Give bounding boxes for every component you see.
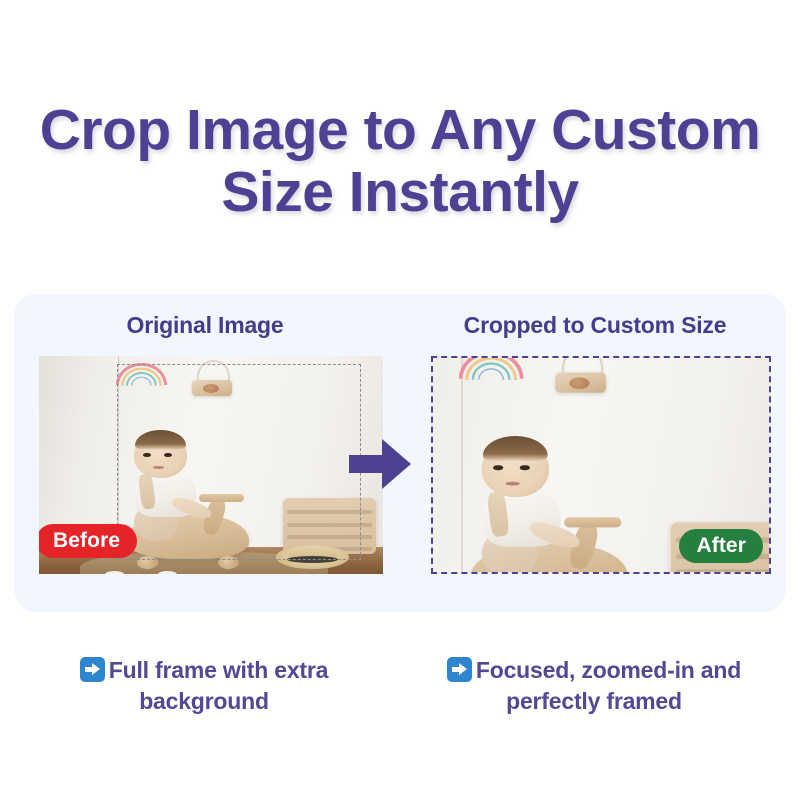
original-image-heading: Original Image — [25, 312, 385, 339]
ride-on-toy-handle — [564, 518, 621, 528]
wall-panel-line — [461, 358, 462, 572]
rainbow-cloud-right — [158, 571, 177, 574]
cropped-image-caption: Focused, zoomed-in and perfectly framed — [404, 655, 784, 717]
original-image-column: Original Image — [25, 294, 385, 612]
right-arrow-emoji-icon — [80, 657, 105, 682]
original-image-caption: Full frame with extra background — [14, 655, 394, 717]
cropped-image-caption-text: Focused, zoomed-in and perfectly framed — [476, 657, 741, 714]
baby-mouth — [505, 482, 519, 486]
toy-camera-lens — [570, 377, 590, 389]
after-badge: After — [679, 529, 763, 563]
before-badge: Before — [39, 524, 137, 558]
comparison-panel: Original Image — [14, 294, 786, 612]
original-image-caption-text: Full frame with extra background — [109, 657, 328, 714]
original-image-photo[interactable]: Before — [39, 356, 383, 574]
crop-selection-marquee[interactable] — [117, 364, 361, 560]
cropped-image-heading: Cropped to Custom Size — [415, 312, 775, 339]
rainbow-decor-icon — [459, 358, 516, 379]
rainbow-cloud-left — [105, 571, 124, 574]
cropped-image-photo[interactable]: After — [431, 356, 771, 574]
page-title: Crop Image to Any Custom Size Instantly — [0, 100, 800, 223]
cropped-image-column: Cropped to Custom Size — [415, 294, 775, 612]
right-arrow-icon — [349, 437, 411, 491]
right-arrow-emoji-icon — [447, 657, 472, 682]
